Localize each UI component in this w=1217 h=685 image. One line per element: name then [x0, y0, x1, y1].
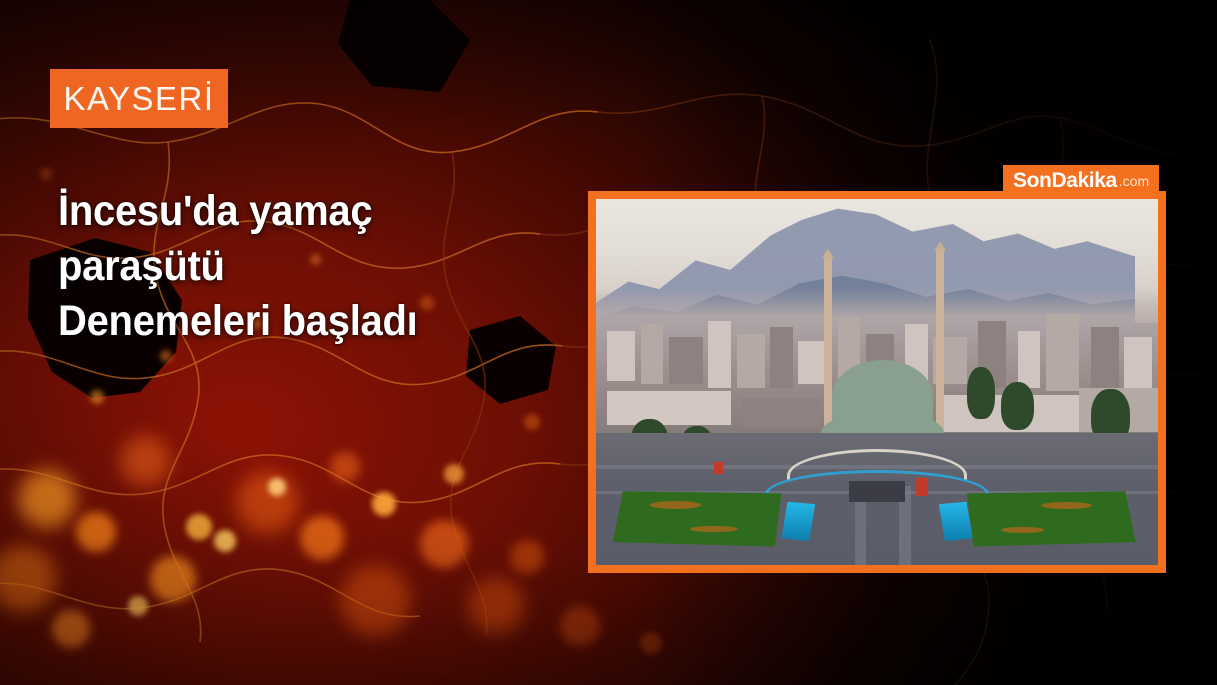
brand-logo-name: SonDakika	[1013, 169, 1117, 193]
headline-line-2: Denemeleri başladı	[58, 294, 542, 349]
brand-logo[interactable]: SonDakika .com	[1003, 165, 1159, 197]
city-badge: KAYSERİ	[50, 69, 228, 128]
city-badge-label: KAYSERİ	[63, 82, 214, 115]
photo-city-square	[596, 433, 1158, 565]
headline-line-1: İncesu'da yamaç paraşütü	[58, 187, 372, 290]
news-photo-frame	[588, 191, 1166, 573]
page-title: İncesu'da yamaç paraşütü Denemeleri başl…	[58, 184, 542, 349]
brand-logo-suffix: .com	[1119, 173, 1149, 189]
news-photo	[596, 199, 1158, 565]
news-card: KAYSERİ İncesu'da yamaç paraşütü Denemel…	[0, 0, 1217, 685]
